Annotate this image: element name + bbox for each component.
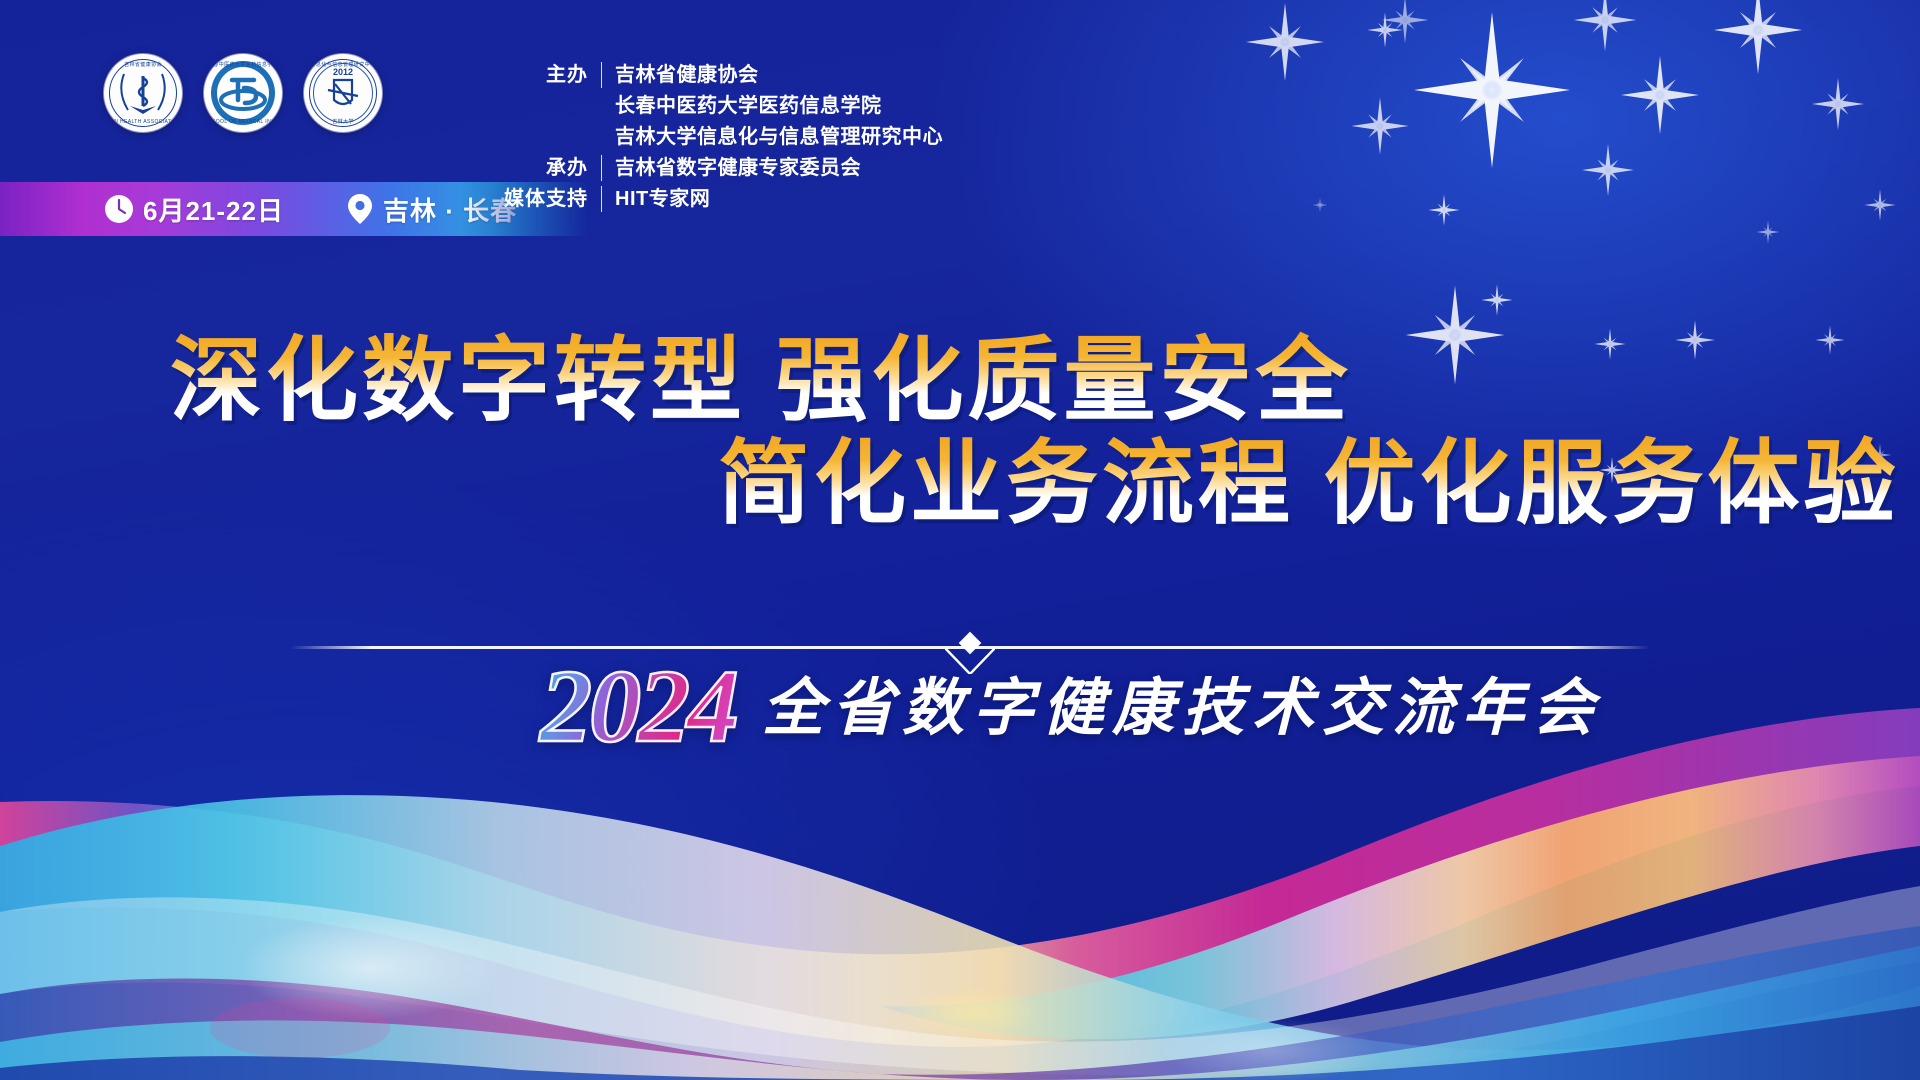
event-location: 吉林 · 长春 [346, 191, 517, 228]
organizer-row: 主办 吉林省健康协会 [494, 60, 943, 91]
organizer-value: 吉林省健康协会 [615, 60, 759, 91]
jilin-university-informatization-research-center-logo: 信息化与信息管理研究中心 2012 吉林大学 [304, 54, 382, 132]
medical-info-emblem-icon [204, 54, 282, 132]
location-pin-icon [346, 193, 374, 225]
organizer-row: 承办 吉林省数字健康专家委员会 [494, 153, 943, 184]
event-year: 2024 [540, 655, 736, 759]
organizer-row: 长春中医药大学医药信息学院 [494, 91, 943, 122]
event-date-text: 6月21-22日 [143, 191, 284, 228]
organizer-divider [601, 186, 602, 212]
organizer-value: 长春中医药大学医药信息学院 [615, 91, 882, 122]
conference-banner: 吉林省健康协会 JILIN HEALTH ASSOCIATION 长春中医药大学… [0, 0, 1920, 1080]
organizer-divider [601, 124, 602, 150]
organizer-divider [601, 155, 602, 181]
organizer-label: 承办 [494, 153, 588, 184]
organizer-label: 媒体支持 [494, 184, 588, 215]
event-date: 6月21-22日 [104, 191, 284, 228]
star-field-decoration [0, 0, 1920, 1080]
caduceus-emblem-icon [104, 54, 182, 132]
organizer-value: 吉林大学信息化与信息管理研究中心 [615, 122, 943, 153]
organizer-row: 吉林大学信息化与信息管理研究中心 [494, 122, 943, 153]
organizer-logos: 吉林省健康协会 JILIN HEALTH ASSOCIATION 长春中医药大学… [104, 54, 382, 132]
headline-line-1: 深化数字转型 强化质量安全 [0, 330, 1920, 433]
year-and-subtitle: 2024 全省数字健康技术交流年会 [540, 655, 1602, 759]
shield-emblem-icon [304, 54, 382, 132]
organizer-divider [601, 62, 602, 88]
clock-icon [104, 194, 134, 224]
organizer-row: 媒体支持 HIT专家网 [494, 184, 943, 215]
event-headline: 深化数字转型 强化质量安全 简化业务流程 优化服务体验 [0, 330, 1920, 536]
changchun-tcm-university-medical-info-college-logo: 长春中医药大学医药信息学院 SCHOOL OF MEDICAL INFORMAT… [204, 54, 282, 132]
organizer-value: HIT专家网 [615, 184, 710, 215]
event-subtitle: 全省数字健康技术交流年会 [762, 657, 1602, 759]
headline-line-2: 简化业务流程 优化服务体验 [0, 433, 1920, 536]
organizer-label: 主办 [494, 60, 588, 91]
jilin-health-association-logo: 吉林省健康协会 JILIN HEALTH ASSOCIATION [104, 54, 182, 132]
organizer-value: 吉林省数字健康专家委员会 [615, 153, 861, 184]
organizer-divider [601, 93, 602, 119]
organizer-credits: 主办 吉林省健康协会 长春中医药大学医药信息学院 吉林大学信息化与信息管理研究中… [494, 60, 943, 215]
